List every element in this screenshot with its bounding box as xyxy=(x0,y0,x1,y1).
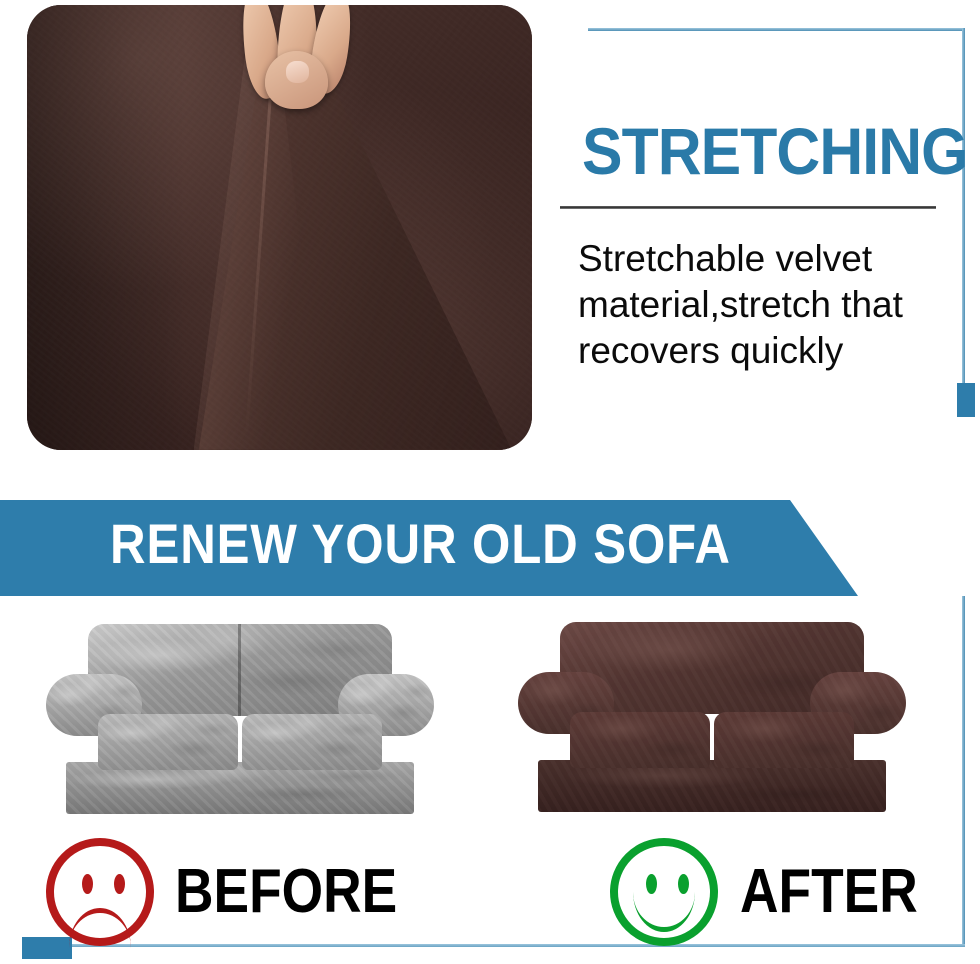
eye-left xyxy=(646,874,657,894)
headline-divider xyxy=(560,206,936,209)
sofa-seat-cushion-left xyxy=(570,712,710,768)
accent-block-right xyxy=(957,383,975,417)
frame-right-line-lower xyxy=(962,596,965,946)
banner-title: RENEW YOUR OLD SOFA xyxy=(110,511,731,576)
accent-block-bottom-left xyxy=(22,937,72,959)
sofa-after-image xyxy=(512,618,912,818)
frame-top-line xyxy=(588,28,965,31)
sofa-seat-cushion-left xyxy=(98,714,238,770)
feature-headline: STRETCHING xyxy=(582,113,967,189)
feature-body-text: Stretchable velvet material,stretch that… xyxy=(578,236,938,374)
sad-face-icon xyxy=(46,838,154,946)
smile-mouth xyxy=(633,892,695,932)
frame-bottom-line xyxy=(60,944,965,947)
sofa-before-image xyxy=(40,620,440,820)
sofa-seat-cushion-right xyxy=(714,712,854,768)
eye-right xyxy=(678,874,689,894)
eye-left xyxy=(82,874,93,894)
fabric-stretch-photo xyxy=(27,5,532,450)
happy-face-icon xyxy=(610,838,718,946)
frame-right-line-upper xyxy=(962,28,965,388)
hand-icon xyxy=(239,5,370,116)
frown-mouth xyxy=(69,908,131,948)
fingernail xyxy=(286,61,308,82)
label-after: AFTER xyxy=(740,856,918,927)
label-before: BEFORE xyxy=(175,856,397,927)
product-infographic: STRETCHING Stretchable velvet material,s… xyxy=(0,0,980,964)
eye-right xyxy=(114,874,125,894)
sofa-seat-cushion-right xyxy=(242,714,382,770)
